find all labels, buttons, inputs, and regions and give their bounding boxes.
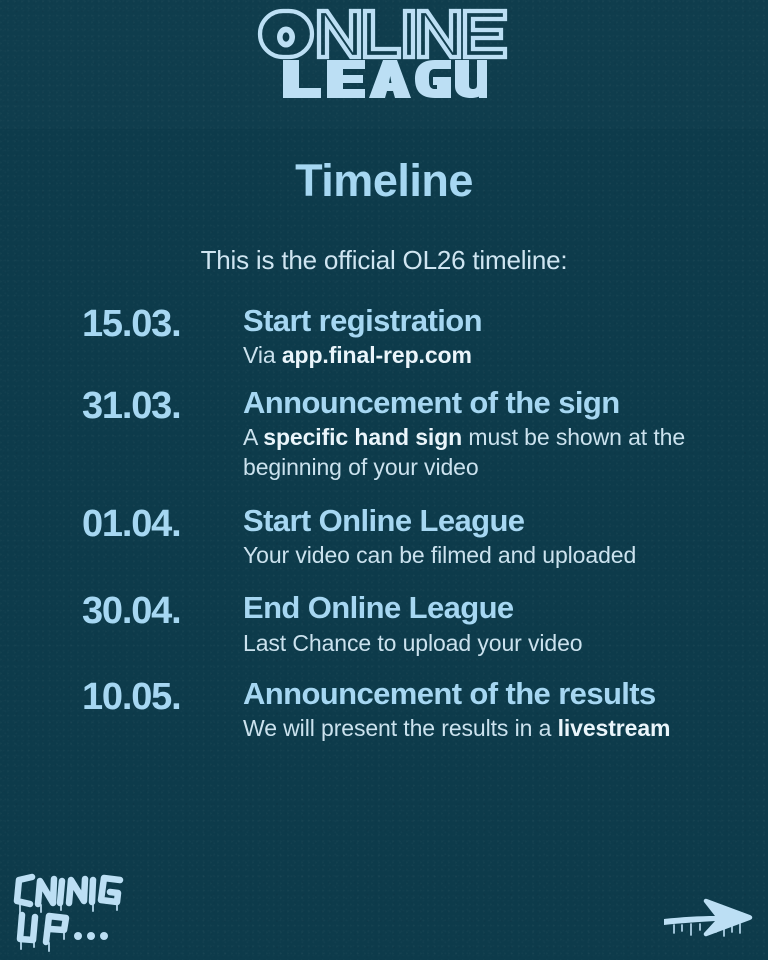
timeline-entry-body: Start registration Via app.final-rep.com [243,303,740,371]
timeline-entry-title: Start Online League [243,503,740,538]
timeline-entry-description-prefix: Last Chance to upload your video [243,630,582,656]
timeline-entry-description-highlight: specific hand sign [263,424,462,450]
logo-inner-o-mark [277,27,295,48]
timeline-entry-description: Via app.final-rep.com [243,340,740,370]
poster-content: Timeline This is the official OL26 timel… [0,0,768,960]
logo-online-wordmark [257,6,511,64]
timeline-entry-title: Start registration [243,303,740,338]
timeline-entry-description: Your video can be filmed and uploaded [243,540,740,570]
timeline-entry-description-prefix: Via [243,342,282,368]
timeline-entry-description-highlight: app.final-rep.com [282,342,472,368]
timeline-entry-description: A specific hand sign must be shown at th… [243,422,740,483]
timeline-entry-title: Announcement of the sign [243,385,740,420]
coming-up-graffiti-icon [4,860,136,952]
timeline-entry-description-prefix: Your video can be filmed and uploaded [243,542,636,568]
timeline-entry: 30.04. End Online League Last Chance to … [0,590,768,658]
poster-canvas: Timeline This is the official OL26 timel… [0,0,768,960]
timeline-entry-description: We will present the results in a livestr… [243,713,740,743]
timeline-entry-body: Start Online League Your video can be fi… [243,503,740,571]
timeline-entry-description-prefix: A [243,424,263,450]
timeline-entry-title: End Online League [243,590,740,625]
timeline-entry-date: 15.03. [82,305,243,344]
timeline-entry-body: Announcement of the sign A specific hand… [243,385,740,483]
page-title: Timeline [0,155,768,207]
timeline-entry-description-highlight: livestream [558,715,671,741]
timeline-entry: 31.03. Announcement of the sign A specif… [0,385,768,483]
timeline-entry-date: 30.04. [82,592,243,631]
timeline-entry: 01.04. Start Online League Your video ca… [0,503,768,571]
right-arrow-icon [660,886,760,948]
timeline-entry-date: 10.05. [82,678,243,717]
graffiti-ellipsis [74,932,108,940]
timeline-entry: 10.05. Announcement of the results We wi… [0,676,768,744]
timeline-entry-description-prefix: We will present the results in a [243,715,558,741]
timeline-entry-date: 01.04. [82,505,243,544]
timeline-list: 15.03. Start registration Via app.final-… [0,303,768,744]
timeline-entry-body: Announcement of the results We will pres… [243,676,740,744]
timeline-entry: 15.03. Start registration Via app.final-… [0,303,768,371]
timeline-entry-body: End Online League Last Chance to upload … [243,590,740,658]
brand-logo [0,6,768,101]
logo-league-wordmark [281,57,487,101]
timeline-entry-description: Last Chance to upload your video [243,628,740,658]
timeline-entry-title: Announcement of the results [243,676,740,711]
page-subtitle: This is the official OL26 timeline: [0,245,768,276]
timeline-entry-date: 31.03. [82,387,243,426]
